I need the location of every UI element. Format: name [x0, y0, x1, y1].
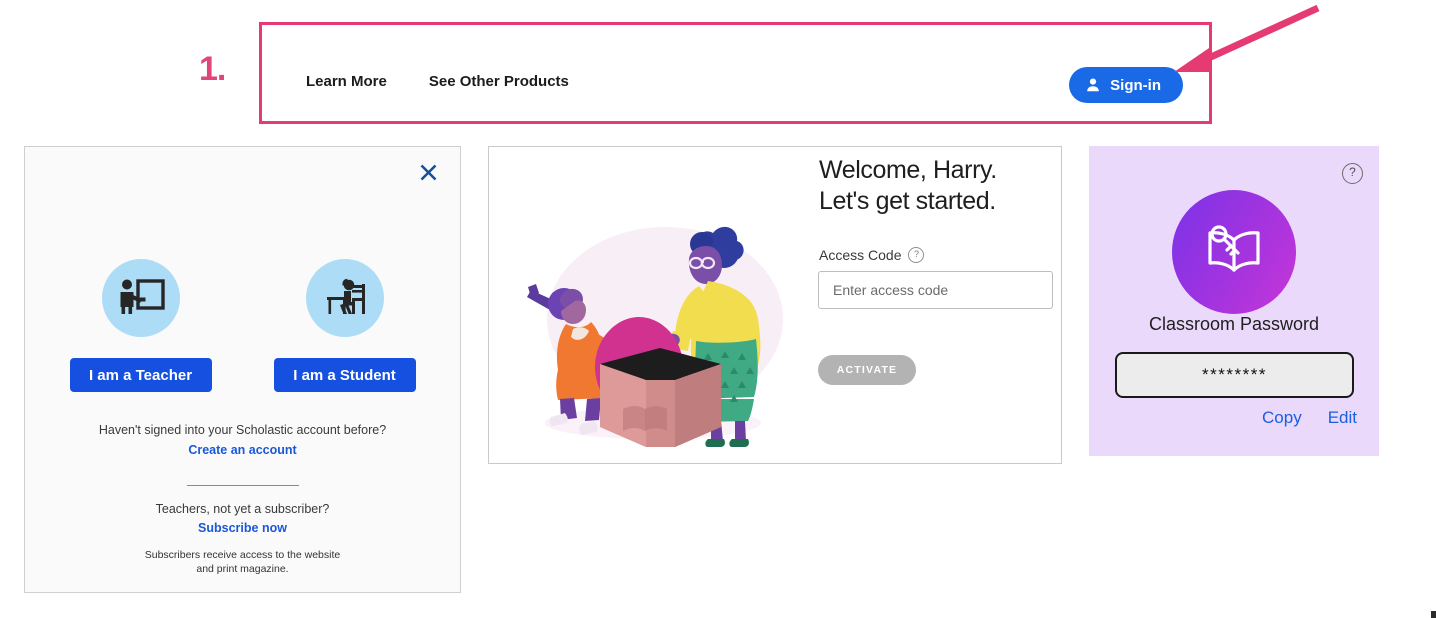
- classroom-password-actions: Copy Edit: [1262, 408, 1357, 428]
- corner-artifact: [1431, 611, 1436, 618]
- key-and-open-book-icon: [1172, 190, 1296, 314]
- role-option-teacher: I am a Teacher: [70, 259, 212, 392]
- copy-password-button[interactable]: Copy: [1262, 408, 1302, 428]
- nav-links: Learn More See Other Products: [306, 73, 569, 90]
- welcome-line-2: Let's get started.: [819, 186, 997, 217]
- fine-print-line-2: and print magazine.: [25, 562, 460, 576]
- teacher-at-whiteboard-icon[interactable]: [102, 259, 180, 337]
- create-account-link[interactable]: Create an account: [25, 443, 460, 457]
- role-option-student: I am a Student: [274, 259, 416, 392]
- divider: [187, 485, 299, 486]
- nav-link-learn-more[interactable]: Learn More: [306, 73, 387, 90]
- welcome-panel: Welcome, Harry. Let's get started. Acces…: [488, 146, 1062, 464]
- subscribe-now-link[interactable]: Subscribe now: [25, 521, 460, 535]
- classroom-password-panel: ? Classroom Password ******** Copy Edit: [1089, 146, 1379, 456]
- nav-link-see-other-products[interactable]: See Other Products: [429, 73, 569, 90]
- two-people-unpacking-box-with-book-illustration: [503, 191, 813, 457]
- role-selection-row: I am a Teacher: [25, 259, 460, 392]
- welcome-title: Welcome, Harry. Let's get started.: [819, 155, 997, 216]
- welcome-line-1: Welcome, Harry.: [819, 155, 997, 186]
- sign-in-button[interactable]: Sign-in: [1069, 67, 1183, 103]
- subscriber-prompt-text: Teachers, not yet a subscriber?: [25, 502, 460, 516]
- classroom-password-field[interactable]: ********: [1115, 352, 1354, 398]
- access-code-label-text: Access Code: [819, 247, 901, 263]
- i-am-a-teacher-button[interactable]: I am a Teacher: [70, 358, 212, 392]
- fine-print-line-1: Subscribers receive access to the websit…: [25, 548, 460, 562]
- top-nav-panel: Learn More See Other Products Sign-in: [259, 22, 1212, 124]
- classroom-password-title: Classroom Password: [1089, 314, 1379, 335]
- student-at-desk-raising-hand-icon[interactable]: [306, 259, 384, 337]
- question-mark-icon[interactable]: ?: [1342, 163, 1363, 184]
- access-code-label: Access Code ?: [819, 247, 924, 263]
- close-icon[interactable]: [415, 159, 441, 185]
- account-prompt-text: Haven't signed into your Scholastic acco…: [25, 423, 460, 437]
- sign-in-button-label: Sign-in: [1110, 77, 1161, 94]
- access-code-input[interactable]: [818, 271, 1053, 309]
- step-number-1: 1.: [199, 52, 225, 86]
- edit-password-button[interactable]: Edit: [1328, 408, 1357, 428]
- person-icon: [1085, 77, 1101, 93]
- i-am-a-student-button[interactable]: I am a Student: [274, 358, 416, 392]
- activate-button[interactable]: ACTIVATE: [818, 355, 916, 385]
- question-mark-icon[interactable]: ?: [908, 247, 924, 263]
- sign-in-modal: I am a Teacher: [24, 146, 461, 593]
